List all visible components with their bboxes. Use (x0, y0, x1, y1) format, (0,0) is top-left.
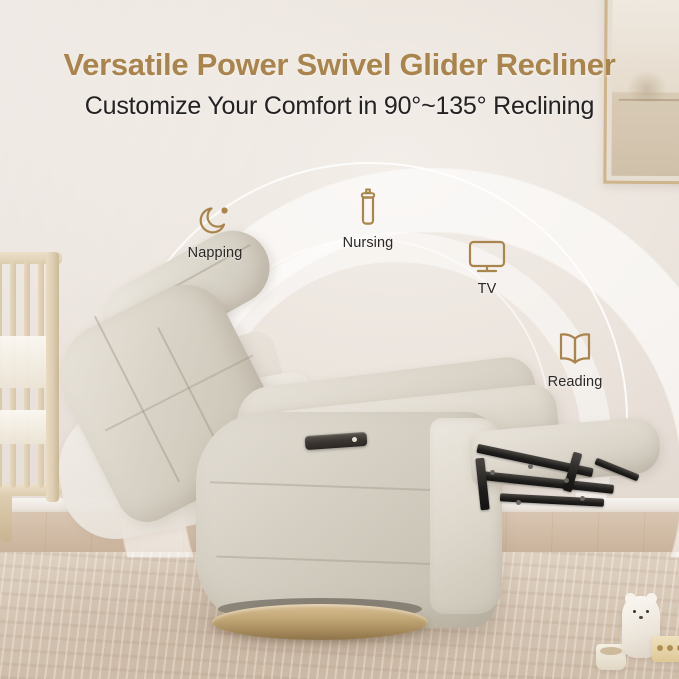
feature-label: Nursing (313, 235, 423, 251)
mechanism-bar (482, 471, 614, 494)
feature-reading: Reading (520, 325, 630, 390)
mechanism-rivet (580, 496, 585, 501)
bear-eye (633, 610, 636, 613)
toy-cup (596, 644, 626, 670)
mechanism-rivet (490, 470, 495, 475)
television-icon (432, 232, 542, 278)
bear-ear (625, 593, 636, 604)
toy-block-hole (657, 645, 663, 651)
mechanism-rivet (564, 478, 569, 483)
recliner-mechanism (476, 452, 654, 526)
mechanism-bar (594, 458, 639, 482)
open-book-icon (520, 325, 630, 371)
page-title: Versatile Power Swivel Glider Recliner (0, 47, 679, 83)
feature-nursing: Nursing (313, 186, 423, 251)
swivel-base (212, 604, 428, 640)
mechanism-rivet (528, 464, 533, 469)
bear-ear (646, 593, 657, 604)
product-marketing-image: Versatile Power Swivel Glider Recliner C… (0, 0, 679, 679)
bear-nose (639, 616, 643, 619)
feature-label: Napping (160, 245, 270, 261)
baby-bottle-icon (313, 186, 423, 232)
page-subtitle: Customize Your Comfort in 90°~135° Recli… (0, 92, 679, 121)
feature-label: Reading (520, 374, 630, 390)
wooden-toy-block (652, 636, 679, 662)
crescent-moon-icon (160, 196, 270, 242)
feature-tv: TV (432, 232, 542, 297)
mechanism-bar (475, 458, 489, 511)
feature-label: TV (432, 281, 542, 297)
toy-block-hole (667, 645, 673, 651)
bear-eye (646, 610, 649, 613)
mechanism-rivet (516, 500, 521, 505)
feature-napping: Napping (160, 196, 270, 261)
